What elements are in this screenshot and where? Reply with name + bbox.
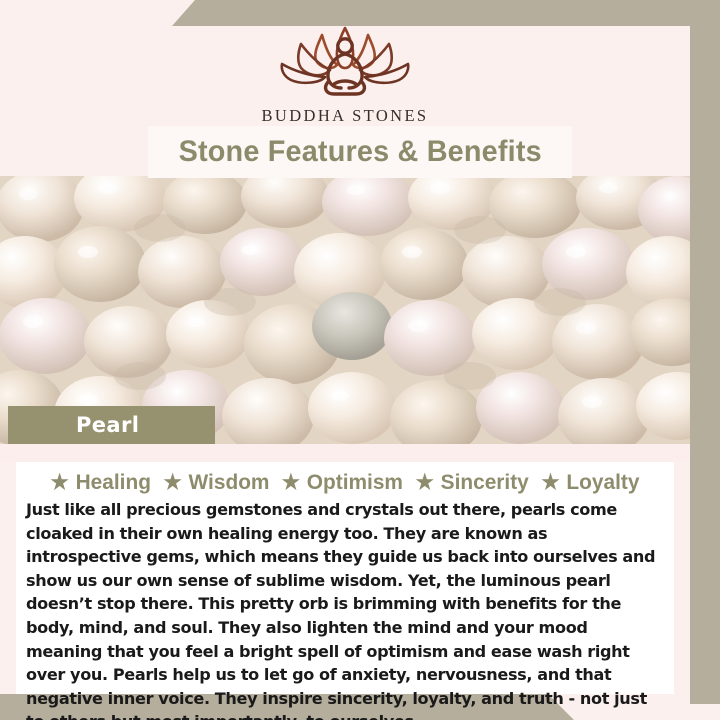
page-title-banner: Stone Features & Benefits xyxy=(148,126,572,178)
benefit-label: Sincerity xyxy=(441,470,529,495)
benefit-item-healing: ★ Healing xyxy=(51,470,151,495)
page-title: Stone Features & Benefits xyxy=(178,135,541,169)
stone-description: Just like all precious gemstones and cry… xyxy=(26,498,664,720)
brand-name: BUDDHA STONES xyxy=(261,106,428,126)
benefit-label: Optimism xyxy=(307,470,403,495)
hero-image xyxy=(0,176,690,444)
pearls-photo xyxy=(0,176,690,444)
benefit-item-optimism: ★ Optimism xyxy=(273,470,403,495)
star-icon: ★ xyxy=(163,472,181,493)
frame-right-decoration xyxy=(690,0,720,704)
star-icon: ★ xyxy=(51,472,69,493)
info-panel: ★ Healing ★ Wisdom ★ Optimism ★ Sincerit… xyxy=(16,462,674,694)
benefit-item-loyalty: ★ Loyalty xyxy=(532,470,639,495)
stone-name-label: Pearl xyxy=(76,413,139,437)
stone-info-card: BUDDHA STONES Stone Features & Benefits xyxy=(0,0,720,720)
divider-strip xyxy=(0,444,690,462)
lotus-meditation-figure-icon xyxy=(270,22,420,100)
benefit-label: Healing xyxy=(76,470,151,495)
star-icon: ★ xyxy=(282,472,300,493)
benefit-item-sincerity: ★ Sincerity xyxy=(407,470,529,495)
brand-logo: BUDDHA STONES xyxy=(0,22,690,126)
benefits-list: ★ Healing ★ Wisdom ★ Optimism ★ Sincerit… xyxy=(16,462,674,495)
star-icon: ★ xyxy=(416,472,434,493)
star-icon: ★ xyxy=(541,472,559,493)
benefit-label: Loyalty xyxy=(566,470,639,495)
stone-name-tag: Pearl xyxy=(8,406,215,444)
benefit-label: Wisdom xyxy=(188,470,269,495)
benefit-item-wisdom: ★ Wisdom xyxy=(155,470,270,495)
